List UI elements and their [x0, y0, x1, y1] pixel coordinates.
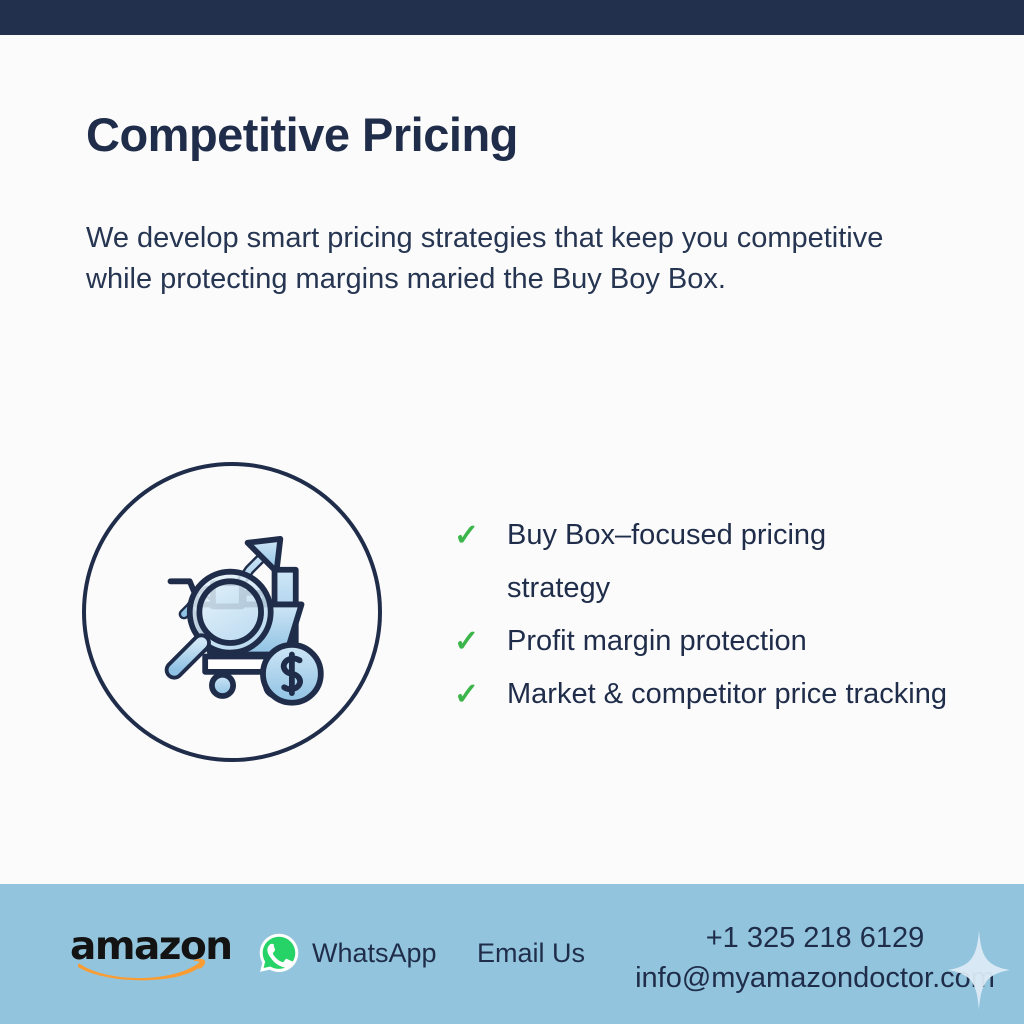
check-icon: ✓ — [454, 509, 488, 562]
feature-list: ✓ Buy Box–focused pricing strategy ✓ Pro… — [447, 509, 1024, 721]
email-us-link[interactable]: Email Us — [477, 938, 585, 969]
list-item: ✓ Profit margin protection — [447, 615, 1024, 668]
top-accent-bar — [0, 0, 1024, 35]
list-item: ✓ Buy Box–focused pricing strategy — [447, 509, 927, 615]
list-item-label: Buy Box–focused pricing strategy — [507, 519, 826, 604]
whatsapp-icon[interactable] — [258, 932, 300, 974]
whatsapp-label: WhatsApp — [312, 938, 437, 969]
check-icon: ✓ — [454, 668, 488, 721]
whatsapp-link[interactable]: WhatsApp — [258, 932, 437, 974]
pricing-analytics-cart-icon — [82, 462, 382, 762]
check-icon: ✓ — [454, 615, 488, 668]
amazon-logo[interactable]: amazon — [70, 928, 210, 984]
list-item: ✓ Market & competitor price tracking — [447, 668, 1024, 721]
amazon-swoosh-icon — [76, 958, 206, 982]
sparkle-icon — [948, 930, 1010, 1010]
list-item-label: Market & competitor price tracking — [507, 678, 947, 710]
intro-paragraph: We develop smart pricing strategies that… — [86, 218, 906, 300]
slide-card: Competitive Pricing We develop smart pri… — [0, 35, 1024, 884]
page-title: Competitive Pricing — [86, 107, 518, 162]
list-item-label: Profit margin protection — [507, 625, 807, 657]
